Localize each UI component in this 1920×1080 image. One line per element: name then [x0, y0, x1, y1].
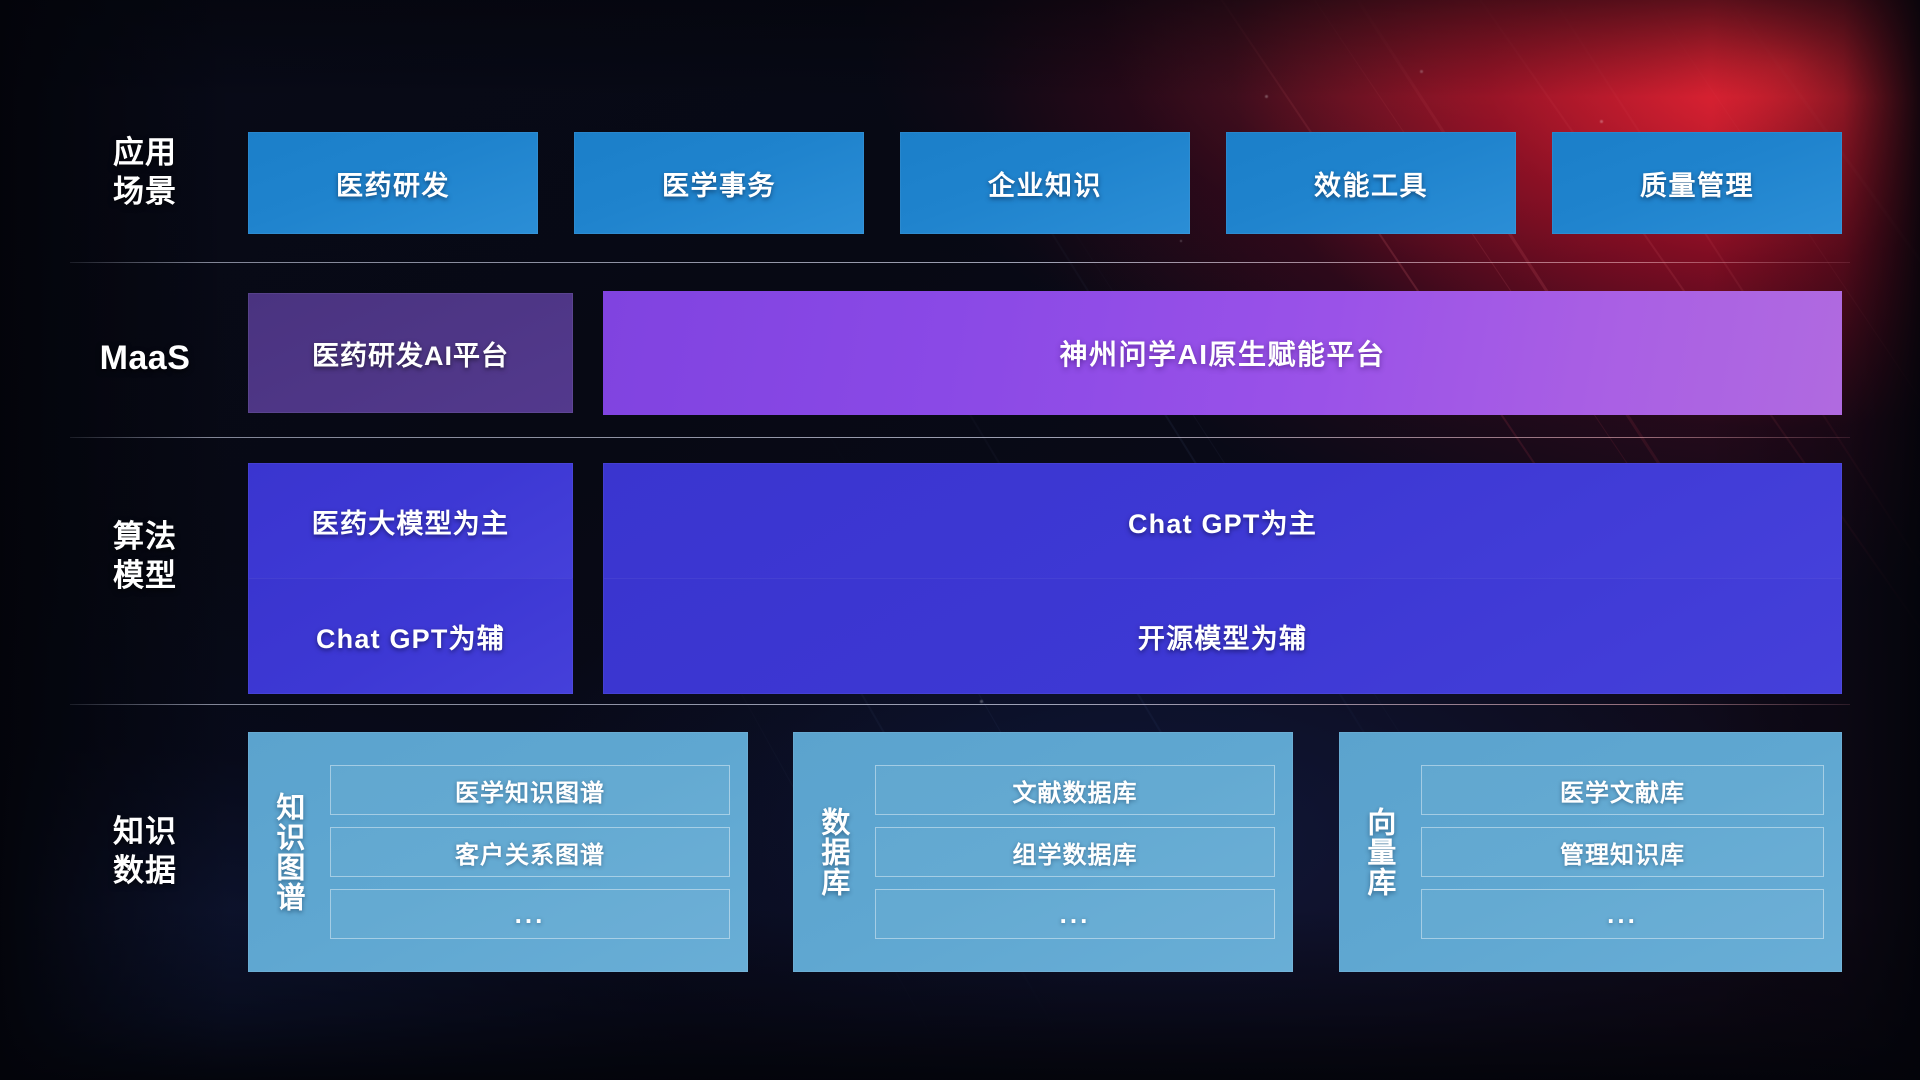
app-box-quality-management[interactable]: 质量管理	[1552, 132, 1842, 234]
row-label-maas: MaaS	[70, 337, 220, 380]
knowledge-item-medical-graph[interactable]: 医学知识图谱	[330, 765, 730, 815]
app-box-efficiency-tools[interactable]: 效能工具	[1226, 132, 1516, 234]
knowledge-item-database-more[interactable]: ...	[875, 889, 1275, 939]
row-label-knowledge: 知识 数据	[70, 812, 220, 890]
row-label-algorithm-line2: 模型	[70, 556, 220, 595]
divider-algorithm-knowledge	[70, 704, 1850, 705]
knowledge-panel-graph-items: 医学知识图谱 客户关系图谱 ...	[326, 732, 748, 972]
knowledge-panel-database: 数据库 文献数据库 组学数据库 ...	[793, 732, 1293, 972]
knowledge-panel-graph: 知识图谱 医学知识图谱 客户关系图谱 ...	[248, 732, 748, 972]
row-label-knowledge-line1: 知识	[70, 812, 220, 851]
knowledge-item-literature-db[interactable]: 文献数据库	[875, 765, 1275, 815]
row-label-application-line1: 应用	[70, 133, 220, 172]
knowledge-item-graph-more[interactable]: ...	[330, 889, 730, 939]
architecture-diagram: 应用 场景 医药研发 医学事务 企业知识 效能工具 质量管理 MaaS 医药研发…	[0, 0, 1920, 1080]
divider-maas-algorithm	[70, 437, 1850, 438]
row-label-algorithm-line1: 算法	[70, 517, 220, 556]
row-label-knowledge-line2: 数据	[70, 851, 220, 890]
app-box-medical-affairs[interactable]: 医学事务	[574, 132, 864, 234]
row-label-application: 应用 场景	[70, 133, 220, 211]
divider-application-maas	[70, 262, 1850, 263]
knowledge-panel-vector: 向量库 医学文献库 管理知识库 ...	[1339, 732, 1842, 972]
app-box-medicine-rd[interactable]: 医药研发	[248, 132, 538, 234]
knowledge-panel-vector-label: 向量库	[1339, 732, 1417, 972]
maas-box-shenzhou-platform[interactable]: 神州问学AI原生赋能平台	[603, 291, 1842, 415]
knowledge-item-management-knowledge[interactable]: 管理知识库	[1421, 827, 1824, 877]
knowledge-item-customer-graph[interactable]: 客户关系图谱	[330, 827, 730, 877]
knowledge-item-vector-more[interactable]: ...	[1421, 889, 1824, 939]
knowledge-panel-database-label: 数据库	[793, 732, 871, 972]
app-box-enterprise-knowledge[interactable]: 企业知识	[900, 132, 1190, 234]
algo-box-medicine-llm-primary[interactable]: 医药大模型为主	[248, 463, 573, 579]
algo-box-opensource-secondary[interactable]: 开源模型为辅	[603, 578, 1842, 694]
knowledge-panel-vector-items: 医学文献库 管理知识库 ...	[1417, 732, 1842, 972]
knowledge-panel-database-items: 文献数据库 组学数据库 ...	[871, 732, 1293, 972]
row-label-algorithm: 算法 模型	[70, 517, 220, 595]
knowledge-item-medical-literature[interactable]: 医学文献库	[1421, 765, 1824, 815]
row-label-application-line2: 场景	[70, 172, 220, 211]
algo-box-chatgpt-primary[interactable]: Chat GPT为主	[603, 463, 1842, 579]
algo-box-chatgpt-secondary[interactable]: Chat GPT为辅	[248, 578, 573, 694]
knowledge-item-omics-db[interactable]: 组学数据库	[875, 827, 1275, 877]
knowledge-panel-graph-label: 知识图谱	[248, 732, 326, 972]
maas-box-medicine-ai-platform[interactable]: 医药研发AI平台	[248, 293, 573, 413]
